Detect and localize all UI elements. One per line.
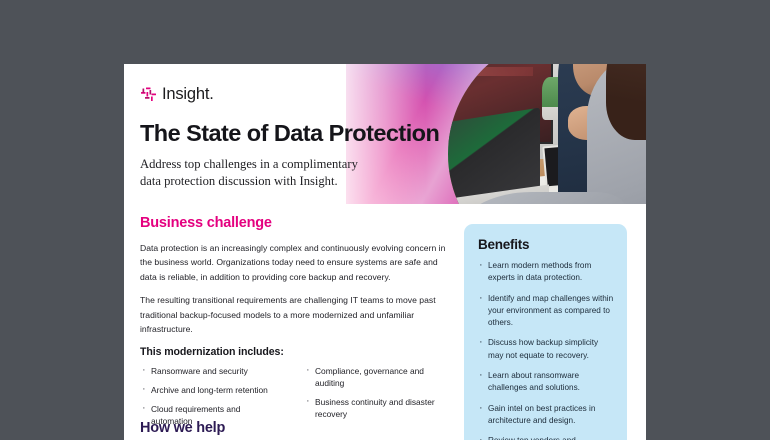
insight-logo-mark <box>140 86 157 103</box>
benefits-panel: Benefits Learn modern methods from exper… <box>464 224 627 440</box>
page-title: The State of Data Protection <box>140 121 450 147</box>
hero-photo-image <box>448 64 646 204</box>
brand-logo[interactable]: Insight. <box>140 86 450 103</box>
page-subtitle: Address top challenges in a complimentar… <box>140 156 450 191</box>
hero-photo <box>448 64 646 204</box>
business-challenge-paragraph: The resulting transitional requirements … <box>140 293 452 336</box>
list-item: Business continuity and disaster recover… <box>304 396 446 421</box>
document-page: Insight. The State of Data Protection Ad… <box>124 64 646 440</box>
list-item: Compliance, governance and auditing <box>304 365 446 390</box>
section-heading-how-we-help: How we help <box>140 420 225 436</box>
screenshot-canvas: Insight. The State of Data Protection Ad… <box>0 0 770 440</box>
benefits-heading: Benefits <box>478 237 614 252</box>
modernization-column-right: Compliance, governance and auditing Busi… <box>304 365 446 435</box>
section-heading-modernization: This modernization includes: <box>140 346 452 358</box>
section-heading-business-challenge: Business challenge <box>140 216 452 232</box>
page-subtitle-line-2: data protection discussion with Insight. <box>140 173 450 190</box>
brand-wordmark: Insight. <box>162 86 214 103</box>
modernization-list-right: Compliance, governance and auditing Busi… <box>304 365 446 421</box>
list-item: Ransomware and security <box>140 365 282 377</box>
list-item: Review top vendors and alternative prote… <box>478 435 614 440</box>
page-subtitle-line-1: Address top challenges in a complimentar… <box>140 156 450 173</box>
header-block: Insight. The State of Data Protection Ad… <box>140 86 450 191</box>
list-item: Learn about ransomware challenges and so… <box>478 370 614 395</box>
list-item: Archive and long-term retention <box>140 384 282 396</box>
list-item: Discuss how backup simplicity may not eq… <box>478 337 614 362</box>
list-item: Identify and map challenges within your … <box>478 293 614 330</box>
modernization-list-left: Ransomware and security Archive and long… <box>140 365 282 428</box>
hero-banner: Insight. The State of Data Protection Ad… <box>124 64 646 204</box>
main-content-column: Business challenge Data protection is an… <box>140 216 452 435</box>
list-item: Gain intel on best practices in architec… <box>478 403 614 428</box>
benefits-list: Learn modern methods from experts in dat… <box>478 260 614 440</box>
list-item: Learn modern methods from experts in dat… <box>478 260 614 285</box>
business-challenge-paragraph: Data protection is an increasingly compl… <box>140 241 452 284</box>
benefits-panel-content: Benefits Learn modern methods from exper… <box>464 224 627 440</box>
